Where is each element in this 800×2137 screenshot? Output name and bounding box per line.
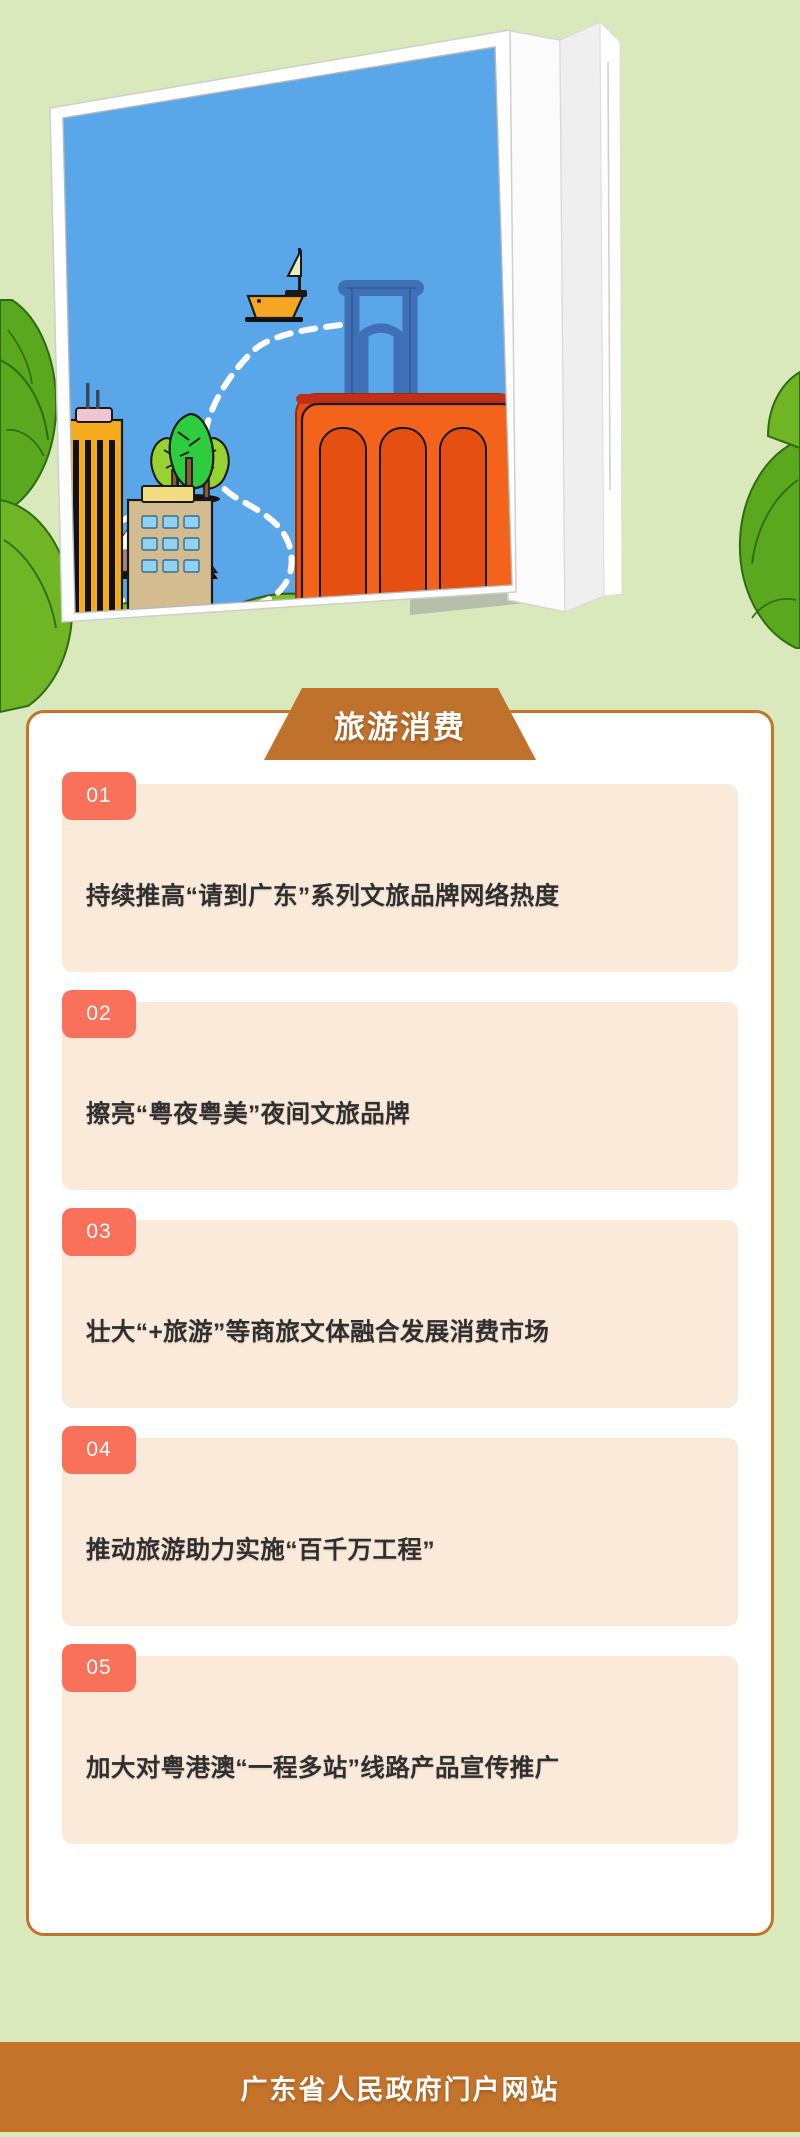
section-title-tab: 旅游消费 (264, 688, 536, 760)
item-text: 壮大“+旅游”等商旅文体融合发展消费市场 (86, 1316, 718, 1350)
item-number-badge: 03 (62, 1208, 136, 1256)
measures-list: 01 持续推高“请到广东”系列文旅品牌网络热度 02 擦亮“粤夜粤美”夜间文旅品… (26, 710, 774, 1884)
travel-photo-illustration-svg (0, 0, 800, 660)
item-number-badge: 01 (62, 772, 136, 820)
page-title: 旅游消费 (334, 702, 466, 747)
footer-site-name: 广东省人民政府门户网站 (241, 2068, 560, 2107)
item-text: 持续推高“请到广东”系列文旅品牌网络热度 (86, 880, 718, 914)
item-text: 加大对粤港澳“一程多站”线路产品宣传推广 (86, 1752, 718, 1786)
photo-scene (50, 30, 530, 660)
item-number-badge: 05 (62, 1644, 136, 1692)
folded-page-spine (560, 22, 604, 612)
item-number-badge: 04 (62, 1426, 136, 1474)
list-item[interactable]: 04 推动旅游助力实施“百千万工程” (62, 1438, 738, 1626)
folded-page-edge (600, 22, 622, 596)
list-item[interactable]: 03 壮大“+旅游”等商旅文体融合发展消费市场 (62, 1220, 738, 1408)
office-building-icon (128, 486, 212, 620)
item-number-badge: 02 (62, 990, 136, 1038)
green-bush (300, 602, 396, 660)
list-item[interactable]: 01 持续推高“请到广东”系列文旅品牌网络热度 (62, 784, 738, 972)
item-text: 擦亮“粤夜粤美”夜间文旅品牌 (86, 1098, 718, 1132)
list-item[interactable]: 02 擦亮“粤夜粤美”夜间文旅品牌 (62, 1002, 738, 1190)
item-text: 推动旅游助力实施“百千万工程” (86, 1534, 718, 1568)
site-footer: 广东省人民政府门户网站 (0, 2042, 800, 2132)
list-item[interactable]: 05 加大对粤港澳“一程多站”线路产品宣传推广 (62, 1656, 738, 1844)
hero-illustration (0, 0, 800, 660)
content-card-wrapper: 旅游消费 01 持续推高“请到广东”系列文旅品牌网络热度 02 擦亮“粤夜粤美”… (26, 688, 774, 1936)
